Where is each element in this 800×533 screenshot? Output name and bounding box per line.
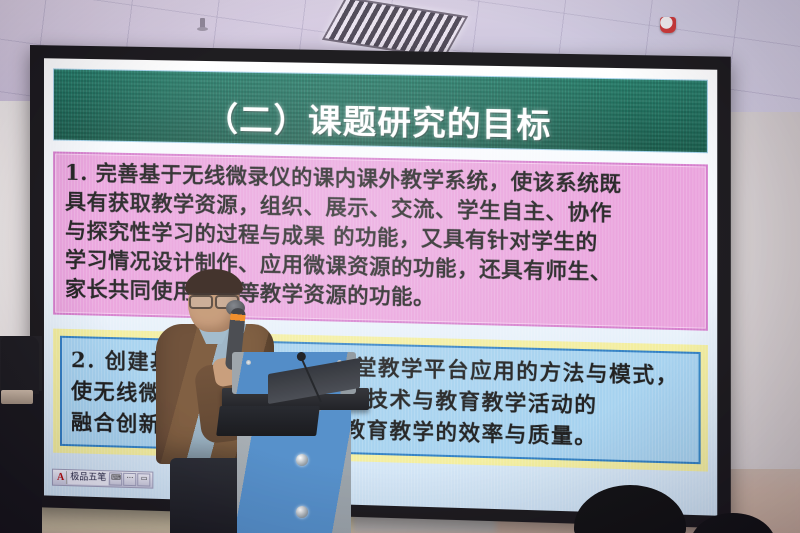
left-foreground-object (0, 336, 42, 533)
slide-title: （二）课题研究的目标 (205, 92, 552, 149)
projection-screen: （二）课题研究的目标 1. 完善基于无线微录仪的课内课外教学系统，使该系统既 具… (30, 45, 731, 528)
sprinkler-head-icon (200, 18, 205, 29)
slide-title-banner: （二）课题研究的目标 (53, 68, 708, 153)
lectern-knob (296, 454, 308, 466)
ime-keyboard-icon[interactable]: ⌨ (109, 472, 122, 485)
smoke-detector-icon (660, 17, 676, 33)
ime-options-icon[interactable]: ⋯ (123, 473, 136, 486)
ime-language-bar[interactable]: A 极品五笔 ⌨ ⋯ ▭ (52, 469, 154, 489)
laptop (216, 406, 320, 436)
left-object-band (1, 390, 33, 404)
lectern (228, 352, 363, 533)
ime-method-name[interactable]: 极品五笔 (68, 471, 108, 485)
ime-minimize-icon[interactable]: ▭ (138, 473, 151, 486)
ime-status-letter[interactable]: A (55, 471, 67, 484)
left-object-top (1, 336, 39, 394)
screen-surface: （二）课题研究的目标 1. 完善基于无线微录仪的课内课外教学系统，使该系统既 具… (44, 58, 717, 515)
slide-content: （二）课题研究的目标 1. 完善基于无线微录仪的课内课外教学系统，使该系统既 具… (44, 58, 717, 515)
presenter-hair (185, 269, 243, 295)
presentation-photo-scene: （二）课题研究的目标 1. 完善基于无线微录仪的课内课外教学系统，使该系统既 具… (0, 0, 800, 533)
lectern-knob (296, 506, 308, 518)
